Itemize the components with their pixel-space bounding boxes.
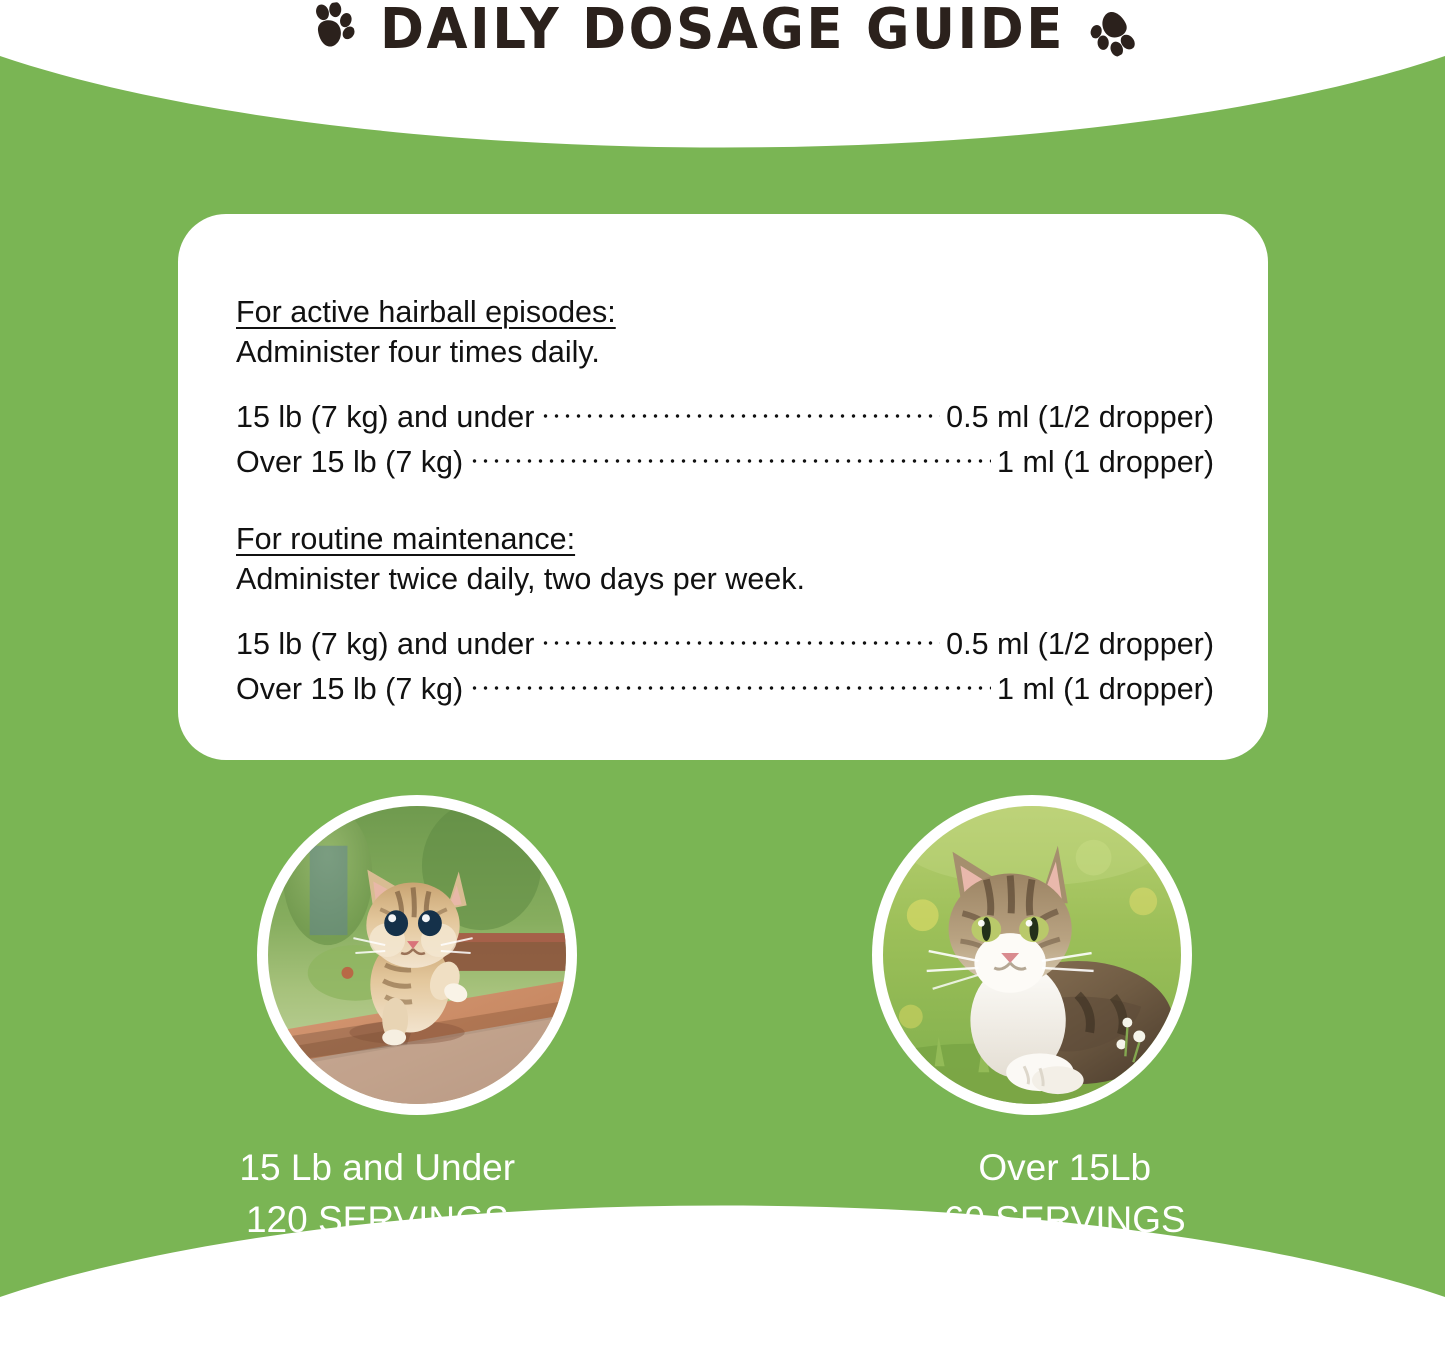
dose-weight-label: 15 lb (7 kg) and under bbox=[236, 395, 534, 440]
dotted-leader bbox=[540, 624, 940, 655]
dose-list: 15 lb (7 kg) and under 0.5 ml (1/2 dropp… bbox=[236, 622, 1214, 712]
caption-servings-line: 120 SERVINGS bbox=[32, 1194, 723, 1246]
dotted-leader bbox=[469, 442, 991, 473]
dose-amount-value: 1 ml (1 dropper) bbox=[997, 440, 1214, 485]
adult-cat-photo-frame bbox=[872, 795, 1192, 1115]
caption-weight-line: 15 Lb and Under bbox=[32, 1142, 723, 1194]
dose-row: 15 lb (7 kg) and under 0.5 ml (1/2 dropp… bbox=[236, 395, 1214, 440]
photo-captions: 15 Lb and Under 120 SERVINGS Over 15Lb 6… bbox=[0, 1142, 1445, 1246]
dosage-card-content: For active hairball episodes: Administer… bbox=[236, 292, 1214, 712]
paw-print-icon bbox=[309, 0, 358, 58]
dose-amount-value: 0.5 ml (1/2 dropper) bbox=[946, 395, 1214, 440]
section-subheading: Administer twice daily, two days per wee… bbox=[236, 559, 1214, 600]
kitten-photo-frame bbox=[257, 795, 577, 1115]
adult-cat-photo bbox=[883, 806, 1181, 1104]
dose-row: Over 15 lb (7 kg) 1 ml (1 dropper) bbox=[236, 667, 1214, 712]
dotted-leader bbox=[469, 669, 991, 700]
section-subheading: Administer four times daily. bbox=[236, 332, 1214, 373]
section-divider-space bbox=[236, 485, 1214, 519]
dose-row: 15 lb (7 kg) and under 0.5 ml (1/2 dropp… bbox=[236, 622, 1214, 667]
dose-list: 15 lb (7 kg) and under 0.5 ml (1/2 dropp… bbox=[236, 395, 1214, 485]
dosage-guide-page: DAILY DOSAGE GUIDE For active hairball e… bbox=[0, 0, 1445, 1359]
dose-weight-label: Over 15 lb (7 kg) bbox=[236, 667, 463, 712]
caption-weight-line: Over 15Lb bbox=[723, 1142, 1408, 1194]
dose-weight-label: Over 15 lb (7 kg) bbox=[236, 440, 463, 485]
dose-weight-label: 15 lb (7 kg) and under bbox=[236, 622, 534, 667]
kitten-running-photo bbox=[268, 806, 566, 1104]
caption-servings-line: 60 SERVINGS bbox=[723, 1194, 1408, 1246]
dotted-leader bbox=[540, 397, 940, 428]
caption-adult-cat: Over 15Lb 60 SERVINGS bbox=[723, 1142, 1445, 1246]
dose-amount-value: 0.5 ml (1/2 dropper) bbox=[946, 622, 1214, 667]
dosage-section-active: For active hairball episodes: Administer… bbox=[236, 292, 1214, 485]
page-header: DAILY DOSAGE GUIDE bbox=[0, 0, 1445, 58]
section-heading: For routine maintenance: bbox=[236, 519, 1214, 559]
dose-amount-value: 1 ml (1 dropper) bbox=[997, 667, 1214, 712]
dosage-card: For active hairball episodes: Administer… bbox=[178, 214, 1268, 760]
page-title: DAILY DOSAGE GUIDE bbox=[380, 0, 1065, 61]
section-heading: For active hairball episodes: bbox=[236, 292, 1214, 332]
dose-row: Over 15 lb (7 kg) 1 ml (1 dropper) bbox=[236, 440, 1214, 485]
photo-row bbox=[0, 795, 1445, 1125]
dosage-section-maintenance: For routine maintenance: Administer twic… bbox=[236, 519, 1214, 712]
paw-print-icon bbox=[1081, 0, 1143, 62]
caption-kitten: 15 Lb and Under 120 SERVINGS bbox=[0, 1142, 723, 1246]
